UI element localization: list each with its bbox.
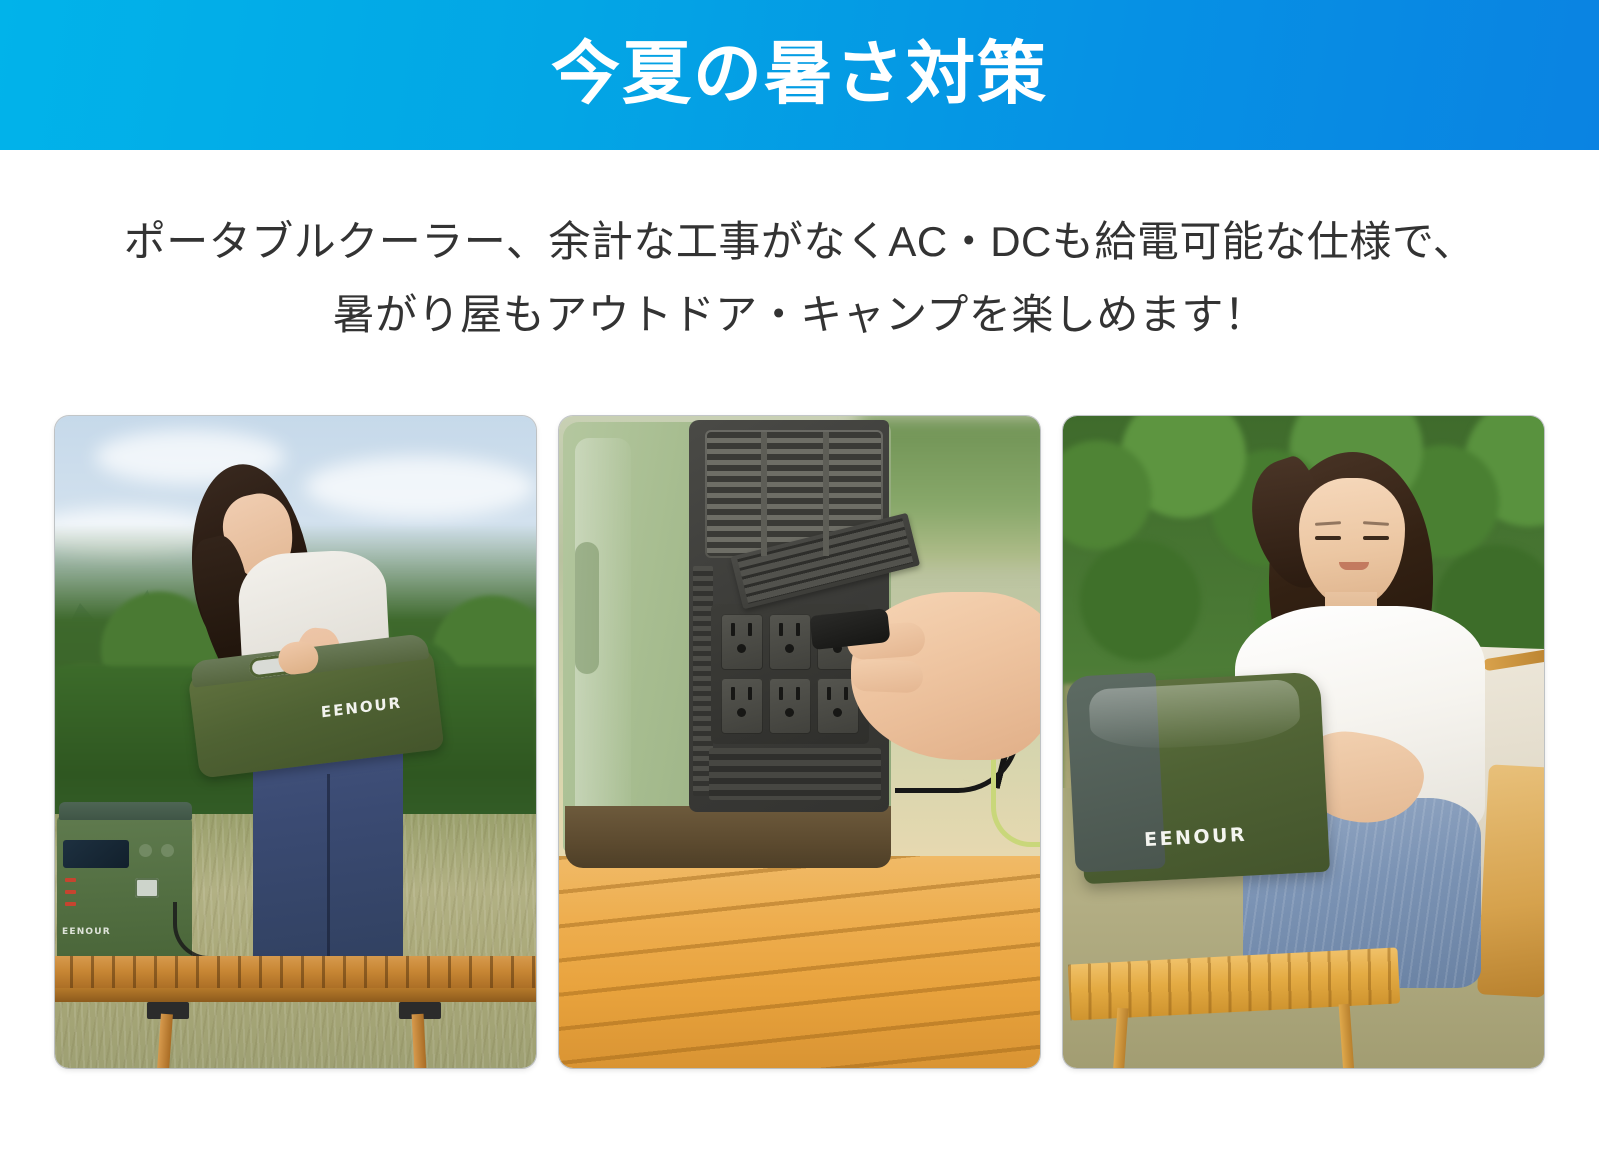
power-station-top (59, 802, 192, 820)
ac-outlet (721, 678, 763, 734)
photo-card-ac-outlets[interactable] (559, 416, 1040, 1068)
camping-table-top (55, 956, 536, 990)
photo-card-seated-woman[interactable]: EENOUR (1063, 416, 1544, 1068)
power-station-button (161, 844, 174, 857)
power-station-port (135, 878, 159, 898)
power-station-button (139, 844, 152, 857)
person-eye-closed (1315, 536, 1341, 540)
power-station: EENOUR (57, 816, 192, 959)
cooler-highlight (1088, 679, 1301, 752)
lead-line-1: ポータブルクーラー、余計な工事がなくAC・DCも給電可能な仕様で、 (124, 212, 1475, 273)
photo-image-ac-outlets (559, 416, 1040, 1068)
cloud (305, 456, 535, 518)
power-station-led (65, 902, 76, 906)
power-station-display (63, 840, 129, 868)
power-station-led (65, 878, 76, 882)
grille-divider (761, 432, 767, 556)
chair-frame-right (1477, 764, 1544, 997)
photo-image-carrying-cooler: EENOUR EENOUR (55, 416, 536, 1068)
power-station-base (565, 806, 891, 868)
brand-logo-power-station: EENOUR (62, 927, 111, 937)
ac-outlet (769, 614, 811, 670)
photo-gallery: EENOUR EENOUR (55, 416, 1544, 1068)
ac-outlet (769, 678, 811, 734)
lead-copy: ポータブルクーラー、余計な工事がなくAC・DCも給電可能な仕様で、 暑がり屋もア… (0, 150, 1599, 408)
photo-card-carrying-cooler[interactable]: EENOUR EENOUR (55, 416, 536, 1068)
camping-table-rail (55, 988, 536, 1002)
brand-logo-cooler: EENOUR (1144, 824, 1248, 851)
page-title: 今夏の暑さ対策 (551, 39, 1048, 108)
side-handle-slot (575, 542, 599, 674)
grille-divider (823, 432, 829, 556)
finger (850, 659, 923, 693)
camping-table (559, 856, 1040, 1068)
header-banner: 今夏の暑さ対策 (0, 0, 1599, 150)
person-mouth (1339, 562, 1369, 570)
portable-cooler: EENOUR (1074, 672, 1330, 885)
ac-outlet (721, 614, 763, 670)
power-station-led (65, 890, 76, 894)
photo-image-seated-woman: EENOUR (1063, 416, 1544, 1068)
brand-logo-cooler: EENOUR (320, 693, 402, 721)
person-eye-closed (1363, 536, 1389, 540)
panel-ribs-bottom (709, 748, 881, 800)
lead-line-2: 暑がり屋もアウトドア・キャンプを楽しめます！ (333, 285, 1267, 346)
